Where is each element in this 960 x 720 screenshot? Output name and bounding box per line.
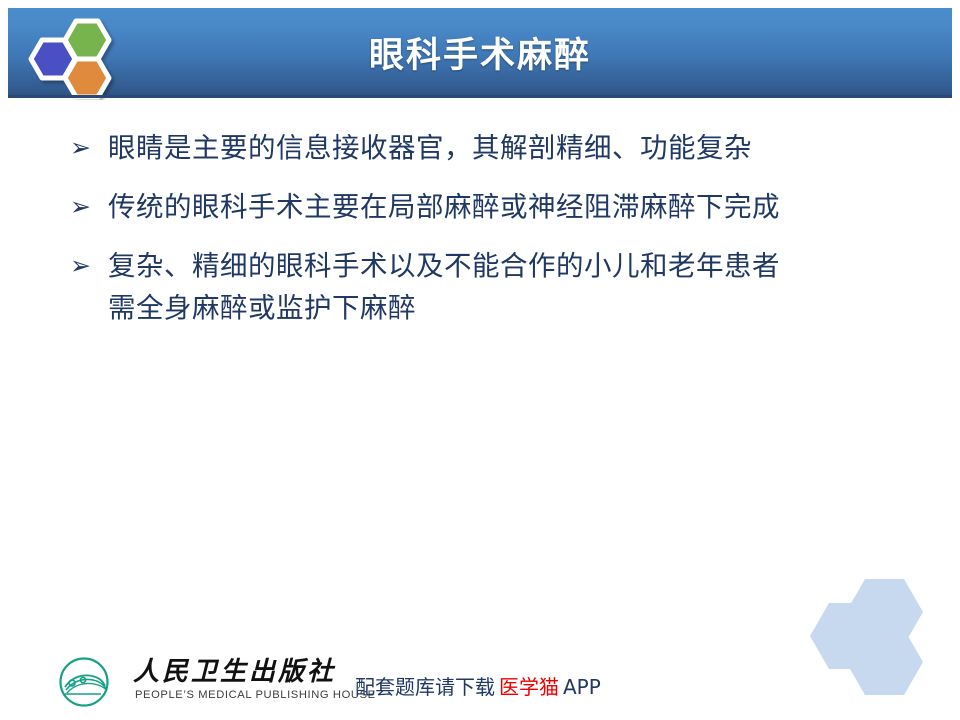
publisher-logo: 人民卫生出版社 PEOPLE’S MEDICAL PUBLISHING HOUS…: [55, 655, 320, 710]
list-item-text: 眼睛是主要的信息接收器官，其解剖精细、功能复杂: [108, 127, 918, 169]
page-title: 眼科手术麻醉: [8, 8, 952, 97]
header-divider: [8, 95, 952, 98]
bullet-arrow-icon: ➢: [68, 186, 108, 228]
promo-prefix: 配套题库请下载: [355, 675, 495, 699]
slide-canvas: 眼科手术麻醉 ➢: [0, 0, 960, 720]
slide-header-band: 眼科手术麻醉: [8, 8, 952, 97]
list-item: ➢ 眼睛是主要的信息接收器官，其解剖精细、功能复杂: [68, 127, 918, 169]
list-item: ➢ 传统的眼科手术主要在局部麻醉或神经阻滞麻醉下完成: [68, 186, 918, 228]
footer-promo-text: 配套题库请下载医学猫APP: [355, 672, 601, 702]
publisher-name-cn: 人民卫生出版社: [133, 655, 323, 689]
bullet-arrow-icon: ➢: [68, 245, 108, 287]
hexagon-trio-logo-icon: [20, 18, 120, 100]
publisher-name-en: PEOPLE’S MEDICAL PUBLISHING HOUSE: [135, 688, 335, 702]
decorative-hexagons-icon: [808, 570, 936, 698]
bullet-arrow-icon: ➢: [68, 127, 108, 169]
publisher-mark-icon: [55, 656, 115, 708]
bullet-list: ➢ 眼睛是主要的信息接收器官，其解剖精细、功能复杂 ➢ 传统的眼科手术主要在局部…: [68, 127, 918, 346]
list-item-text: 复杂、精细的眼科手术以及不能合作的小儿和老年患者 需全身麻醉或监护下麻醉: [108, 245, 918, 329]
promo-suffix: APP: [563, 675, 601, 699]
list-item-text: 传统的眼科手术主要在局部麻醉或神经阻滞麻醉下完成: [108, 186, 918, 228]
promo-app-name: 医学猫: [499, 675, 559, 699]
list-item: ➢ 复杂、精细的眼科手术以及不能合作的小儿和老年患者 需全身麻醉或监护下麻醉: [68, 245, 918, 329]
